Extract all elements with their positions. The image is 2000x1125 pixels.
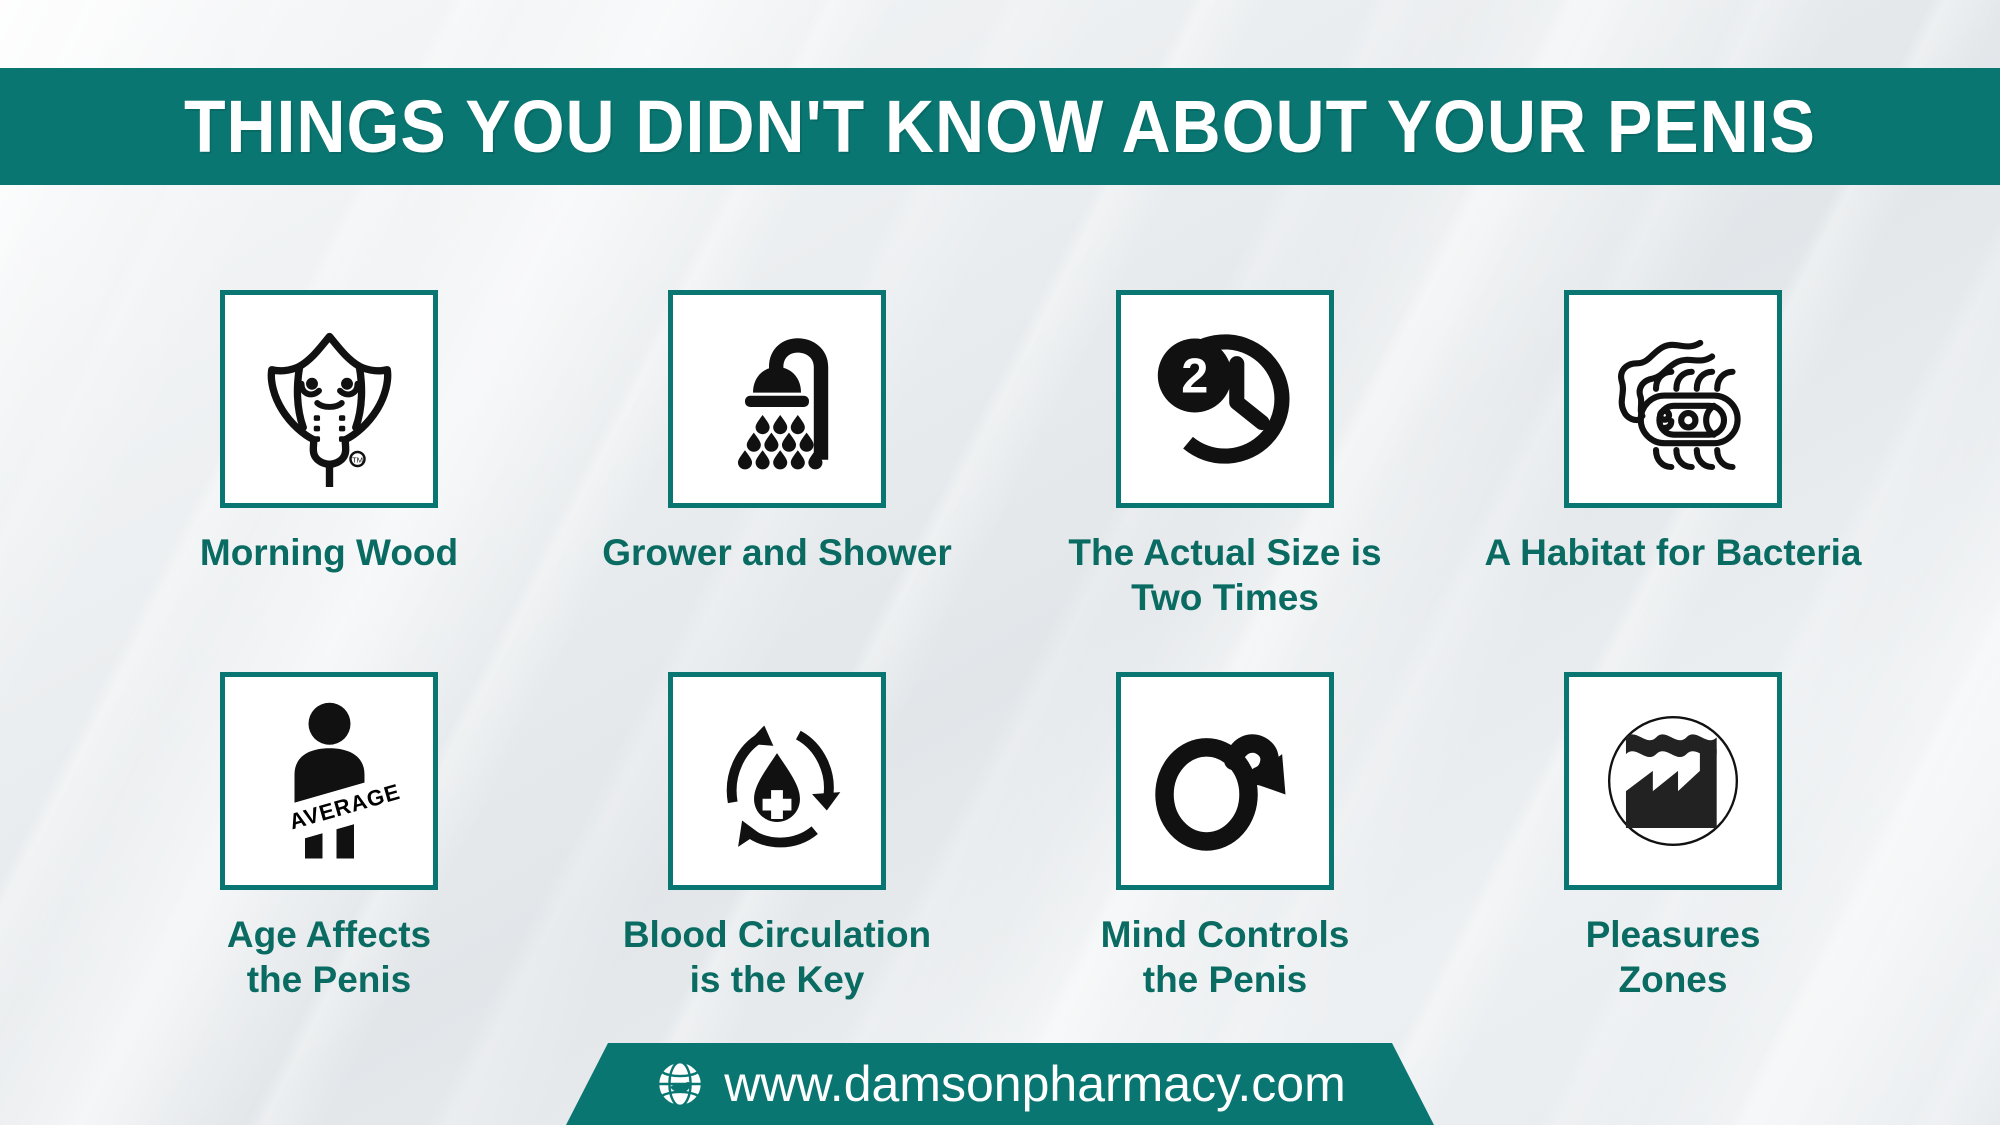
fact-label: Pleasures Zones bbox=[1586, 912, 1761, 1002]
fact-card-blood-circulation[interactable]: Blood Circulation is the Key bbox=[553, 672, 1001, 1002]
facts-row-1: TM Morning Wood bbox=[0, 290, 2000, 620]
fact-label: Age Affects the Penis bbox=[227, 912, 431, 1002]
svg-text:TM: TM bbox=[351, 455, 362, 464]
clock-number-label: 2 bbox=[1181, 349, 1208, 403]
fact-label: Mind Controls the Penis bbox=[1101, 912, 1350, 1002]
male-symbol-arrow-icon bbox=[1141, 697, 1309, 865]
icon-box: 2 bbox=[1116, 290, 1334, 508]
footer-band[interactable]: www.damsonpharmacy.com bbox=[566, 1043, 1434, 1125]
page-title: THINGS YOU DIDN'T KNOW ABOUT YOUR PENIS bbox=[184, 84, 1816, 169]
stingray-icon: TM bbox=[242, 312, 417, 487]
facts-grid: TM Morning Wood bbox=[0, 290, 2000, 1002]
fact-label: The Actual Size is Two Times bbox=[1068, 530, 1381, 620]
fact-card-habitat-bacteria[interactable]: A Habitat for Bacteria bbox=[1449, 290, 1897, 575]
icon-box bbox=[1564, 290, 1782, 508]
facts-row-2: AVERAGE Age Affects the Penis bbox=[0, 672, 2000, 1002]
fact-label: A Habitat for Bacteria bbox=[1485, 530, 1862, 575]
fact-card-grower-and-shower[interactable]: Grower and Shower bbox=[553, 290, 1001, 575]
header-band: THINGS YOU DIDN'T KNOW ABOUT YOUR PENIS bbox=[0, 68, 2000, 185]
icon-box bbox=[668, 290, 886, 508]
fact-label: Blood Circulation is the Key bbox=[623, 912, 931, 1002]
bacteria-icon bbox=[1588, 314, 1758, 484]
fact-card-mind-controls[interactable]: Mind Controls the Penis bbox=[1001, 672, 1449, 1002]
icon-box: TM bbox=[220, 290, 438, 508]
icon-box: AVERAGE bbox=[220, 672, 438, 890]
factory-icon bbox=[1589, 697, 1757, 865]
fact-card-pleasure-zones[interactable]: Pleasures Zones bbox=[1449, 672, 1897, 1002]
fact-card-morning-wood[interactable]: TM Morning Wood bbox=[105, 290, 553, 575]
fact-label: Grower and Shower bbox=[602, 530, 952, 575]
clock-two-icon: 2 bbox=[1141, 315, 1309, 483]
fact-card-actual-size[interactable]: 2 The Actual Size is Two Times bbox=[1001, 290, 1449, 620]
website-url[interactable]: www.damsonpharmacy.com bbox=[724, 1055, 1346, 1113]
fact-label: Morning Wood bbox=[200, 530, 458, 575]
fact-card-age-affects[interactable]: AVERAGE Age Affects the Penis bbox=[105, 672, 553, 1002]
blood-circulation-icon bbox=[695, 699, 859, 863]
shower-icon bbox=[697, 319, 857, 479]
globe-icon bbox=[654, 1058, 706, 1110]
icon-box bbox=[668, 672, 886, 890]
icon-box bbox=[1564, 672, 1782, 890]
icon-box bbox=[1116, 672, 1334, 890]
infographic-page: THINGS YOU DIDN'T KNOW ABOUT YOUR PENIS bbox=[0, 0, 2000, 1125]
